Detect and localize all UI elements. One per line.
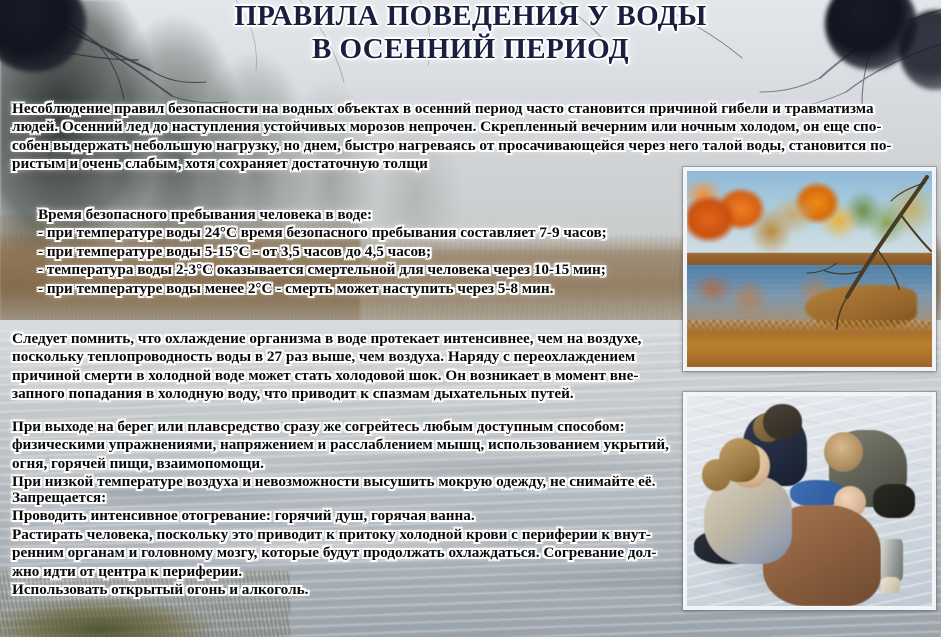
- rescue-helper-back-hat: [763, 404, 802, 440]
- title-line-1: ПРАВИЛА ПОВЕДЕНИЯ У ВОДЫ: [0, 0, 941, 33]
- cooling-line: причиной смерти в холодной воде может ст…: [12, 367, 672, 385]
- autumn-river-photo: [683, 167, 936, 371]
- safe-time-item: - температура воды 2-3°С оказывается сме…: [38, 261, 678, 279]
- cooling-line: поскольку теплопроводность воды в 27 раз…: [12, 348, 672, 366]
- river-leaning-tree: [687, 171, 932, 367]
- forbidden-line: Растирать человека, поскольку это привод…: [12, 526, 684, 544]
- rescue-cup: [881, 577, 901, 594]
- safety-poster: ПРАВИЛА ПОВЕДЕНИЯ У ВОДЫ В ОСЕННИЙ ПЕРИО…: [0, 0, 941, 637]
- safe-time-heading: Время безопасного пребывания человека в …: [38, 206, 678, 224]
- forbidden-heading: Запрещается:: [12, 489, 684, 507]
- rescue-helper-right-head: [824, 432, 863, 472]
- safe-time-item: - при температуре воды менее 2°С - смерт…: [38, 280, 678, 298]
- forbidden-line: жно идти от центра к периферии.: [12, 563, 684, 581]
- cooling-line: Следует помнить, что охлаждение организм…: [12, 330, 672, 348]
- warming-line: физическими упражнениями, напряжением и …: [12, 436, 684, 454]
- safe-time-block: Время безопасного пребывания человека в …: [38, 206, 678, 298]
- cooling-line: запного попадания в холодную воду, что п…: [12, 385, 672, 403]
- rescue-woman-hair: [719, 438, 761, 482]
- intro-line: людей. Осенний лед до наступления устойч…: [12, 118, 932, 136]
- warming-paragraph: При выходе на берег или плавсредство сра…: [12, 418, 684, 492]
- intro-line: Несоблюдение правил безопасности на водн…: [12, 100, 932, 118]
- poster-title: ПРАВИЛА ПОВЕДЕНИЯ У ВОДЫ В ОСЕННИЙ ПЕРИО…: [0, 0, 941, 66]
- autumn-river-photo-content: [687, 171, 932, 367]
- intro-line: собен выдержать небольшую нагрузку, но д…: [12, 137, 932, 155]
- safe-time-item: - при температуре воды 24°С время безопа…: [38, 224, 678, 242]
- warming-line: огня, горячей пищи, взаимопомощи.: [12, 455, 684, 473]
- ice-rescue-photo: [683, 392, 936, 610]
- forbidden-block: Запрещается: Проводить интенсивное отогр…: [12, 489, 684, 599]
- warming-line: При выходе на берег или плавсредство сра…: [12, 418, 684, 436]
- cooling-paragraph: Следует помнить, что охлаждение организм…: [12, 330, 672, 404]
- safe-time-item: - при температуре воды 5-15°С - от 3,5 ч…: [38, 243, 678, 261]
- rescue-thermos: [881, 539, 903, 581]
- rescue-helper-right-leg: [873, 484, 915, 518]
- ice-rescue-photo-content: [687, 396, 932, 606]
- forbidden-line: Проводить интенсивное отогревание: горяч…: [12, 507, 684, 525]
- title-line-2: В ОСЕННИЙ ПЕРИОД: [0, 33, 941, 66]
- intro-paragraph: Несоблюдение правил безопасности на водн…: [12, 100, 932, 174]
- forbidden-line: ренним органам и головному мозгу, которы…: [12, 544, 684, 562]
- forbidden-line: Использовать открытый огонь и алкоголь.: [12, 581, 684, 599]
